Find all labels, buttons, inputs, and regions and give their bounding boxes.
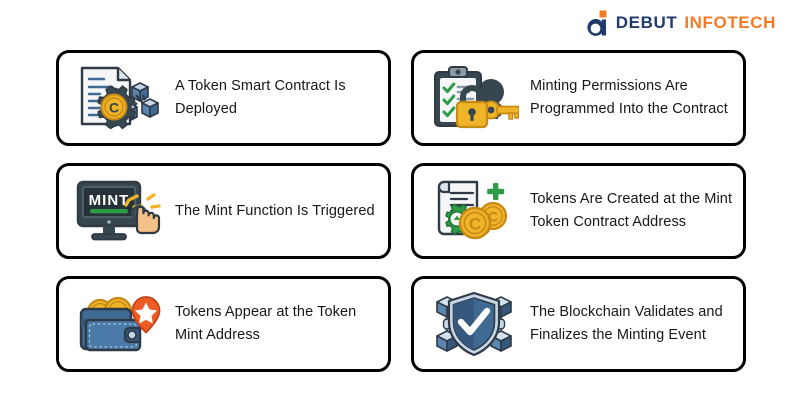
debut-d-logo-icon <box>585 10 609 36</box>
brand-name-secondary: INFOTECH <box>684 13 776 33</box>
step-card-minting-permissions-programmed[interactable]: Minting Permissions Are Programmed Into … <box>411 50 746 146</box>
scroll-gear-coins-plus-icon: C C <box>428 174 520 248</box>
brand-name-primary: DEBUT <box>616 13 678 33</box>
monitor-screen-text: MINT <box>89 192 130 209</box>
wallet-coins-location-pin-icon <box>73 287 165 361</box>
brand-logo: DEBUT INFOTECH <box>585 10 776 36</box>
page-header: DEBUT INFOTECH <box>0 0 794 46</box>
step-card-label: The Blockchain Validates and Finalizes t… <box>530 301 733 347</box>
blockchain-shield-check-icon <box>428 287 520 361</box>
svg-text:C: C <box>469 215 481 234</box>
step-card-label: Tokens Appear at the Token Mint Address <box>175 301 378 347</box>
clipboard-checklist-padlock-key-icon <box>428 61 520 135</box>
step-card-tokens-created-at-mint-contract[interactable]: C C Tokens Are Created at the Mint Token… <box>411 163 746 259</box>
step-card-blockchain-validates-minting[interactable]: The Blockchain Validates and Finalizes t… <box>411 276 746 372</box>
step-card-label: Tokens Are Created at the Mint Token Con… <box>530 188 733 234</box>
svg-text:C: C <box>109 100 119 116</box>
step-card-label: A Token Smart Contract Is Deployed <box>175 75 378 121</box>
step-card-label: Minting Permissions Are Programmed Into … <box>530 75 733 121</box>
step-card-tokens-appear-at-mint-address[interactable]: Tokens Appear at the Token Mint Address <box>56 276 391 372</box>
brand-wordmark: DEBUT INFOTECH <box>616 13 776 33</box>
step-card-label: The Mint Function Is Triggered <box>175 200 378 223</box>
step-card-mint-function-triggered[interactable]: MINT The Mint Function Is Trig <box>56 163 391 259</box>
step-card-token-smart-contract-deployed[interactable]: C A Token Smart Contract Is Deployed <box>56 50 391 146</box>
document-gear-coin-blockchain-icon: C <box>73 61 165 135</box>
monitor-mint-click-cursor-icon: MINT <box>73 174 165 248</box>
process-steps-grid: C A Token Smart Contract Is Deployed <box>56 50 746 372</box>
